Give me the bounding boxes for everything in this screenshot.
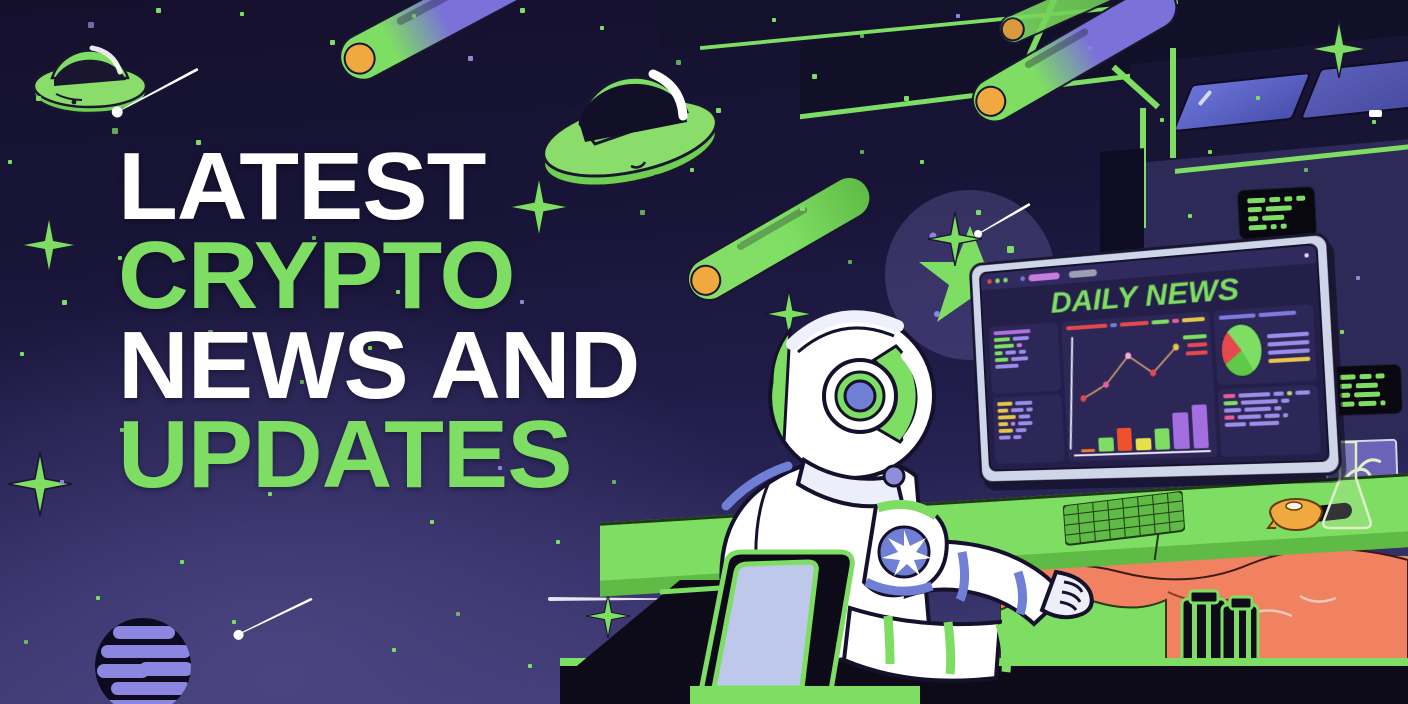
- text-placeholder-row: [1225, 419, 1314, 427]
- text-placeholder-bar: [1274, 406, 1281, 410]
- star-dot: [1024, 96, 1028, 100]
- star-dot: [736, 240, 740, 244]
- star-dot: [232, 620, 236, 624]
- star-dot: [772, 18, 776, 22]
- star-dot: [412, 14, 416, 18]
- text-placeholder-bar: [1283, 413, 1289, 417]
- star-dot: [330, 40, 335, 45]
- terminal-line-row: [1247, 196, 1305, 204]
- text-placeholder-row: [998, 419, 1058, 425]
- star-dot: [1256, 96, 1260, 100]
- star-dot: [456, 612, 460, 616]
- text-placeholder-bar: [1273, 391, 1284, 396]
- chart-panel[interactable]: [1061, 311, 1217, 461]
- text-placeholder-bar: [998, 422, 1008, 426]
- terminal-line: [1354, 392, 1380, 398]
- bar-data-point: [1099, 437, 1114, 452]
- text-placeholder-bar: [1223, 400, 1237, 405]
- pie-slice-dividers: [1220, 324, 1263, 378]
- text-placeholder-bar: [997, 408, 1008, 412]
- star-dot: [20, 352, 24, 356]
- line-data-point: [1150, 369, 1156, 376]
- legend-bar: [1187, 342, 1207, 347]
- terminal-line: [1249, 225, 1267, 231]
- star-dot: [392, 648, 396, 652]
- star-dot: [860, 150, 864, 154]
- terminal-line-row: [1340, 400, 1392, 407]
- headline-line-4: UPDATES: [118, 410, 639, 499]
- text-placeholder-bar: [997, 401, 1013, 406]
- text-placeholder-bar: [994, 344, 1014, 349]
- star-dot: [1340, 330, 1344, 334]
- text-placeholder-row: [997, 406, 1057, 413]
- bar-chart: [1079, 399, 1209, 452]
- browser-menu-icon[interactable]: [1304, 253, 1308, 258]
- star-dot: [976, 210, 981, 215]
- terminal-line: [1340, 383, 1352, 388]
- text-placeholder-bar: [1015, 428, 1026, 432]
- star-dot: [860, 34, 864, 38]
- shooting-star-bottom: [232, 593, 315, 642]
- terminal-line: [1266, 205, 1292, 211]
- star-dot: [1088, 46, 1092, 50]
- text-placeholder-bar: [1287, 391, 1293, 395]
- terminal-line-row: [1339, 373, 1391, 380]
- bar-data-point: [1191, 404, 1209, 448]
- bar-data-point: [1154, 428, 1170, 450]
- star-dot: [1356, 276, 1360, 280]
- terminal-line-row: [1248, 213, 1306, 221]
- terminal-line: [1271, 224, 1277, 229]
- star-dot: [62, 300, 67, 305]
- text-placeholder-bar: [1249, 420, 1279, 425]
- text-placeholder-bar: [1018, 421, 1033, 425]
- dashboard-body: [983, 304, 1327, 470]
- star-dot: [676, 60, 681, 65]
- window-light: [1369, 110, 1382, 117]
- star-dot: [24, 640, 28, 644]
- legend-bar: [1267, 340, 1309, 347]
- terminal-line: [1262, 215, 1284, 221]
- legend-bar: [1186, 350, 1208, 355]
- legend-bar: [1183, 334, 1207, 340]
- star-dot: [36, 96, 41, 101]
- feed-panel[interactable]: [1218, 384, 1321, 457]
- tab-indicator-icon: [1020, 276, 1025, 281]
- legend-bar: [1268, 357, 1310, 364]
- text-placeholder-bar: [1027, 407, 1033, 411]
- star-dot: [716, 108, 721, 113]
- terminal-line: [1359, 374, 1371, 379]
- text-placeholder-bar: [998, 414, 1016, 419]
- text-placeholder-row: [995, 361, 1055, 368]
- star-dot: [800, 206, 805, 211]
- text-placeholder-bar: [1238, 392, 1270, 398]
- text-placeholder-bar: [1017, 343, 1023, 347]
- legend-bar: [1151, 319, 1169, 324]
- text-placeholder-bar: [1281, 398, 1290, 403]
- star-dot: [8, 160, 12, 164]
- text-placeholder-row: [1224, 412, 1313, 420]
- terminal-line: [1248, 207, 1262, 213]
- text-placeholder-row: [997, 399, 1057, 406]
- line-data-point: [1173, 343, 1180, 350]
- star-dot: [60, 480, 64, 484]
- text-placeholder-bar: [1224, 407, 1242, 412]
- star-dot: [600, 26, 604, 30]
- star-dot: [920, 160, 924, 164]
- star-dot: [96, 596, 100, 600]
- text-placeholder-row: [998, 413, 1058, 420]
- text-placeholder-bar: [999, 435, 1011, 439]
- line-chart: [1075, 332, 1184, 409]
- chair: [690, 500, 920, 704]
- text-placeholder-bar: [999, 428, 1013, 432]
- chart-legend-side: [1183, 334, 1208, 356]
- traffic-light-minimize[interactable]: [995, 278, 1000, 283]
- bar-data-point: [1172, 412, 1189, 449]
- text-placeholder-bar: [995, 358, 1008, 363]
- bar-data-point: [1136, 437, 1152, 450]
- text-placeholder-bar: [1013, 336, 1029, 341]
- allocation-pie-chart: [1219, 323, 1264, 379]
- star-dot: [430, 520, 434, 524]
- right-column: [1213, 304, 1321, 457]
- text-placeholder-bar: [1238, 414, 1261, 419]
- headline-line-3: NEWS AND: [118, 321, 639, 410]
- terminal-line: [1380, 400, 1385, 405]
- star-dot: [690, 168, 694, 172]
- ceiling-pipe-branch: [1170, 48, 1176, 158]
- article-list-upper[interactable]: [989, 322, 1061, 393]
- text-placeholder-bar: [1018, 414, 1030, 418]
- bar-data-point: [1081, 449, 1096, 452]
- terminal-line: [1339, 374, 1355, 380]
- text-placeholder-bar: [1010, 421, 1015, 425]
- bar-data-point: [1117, 428, 1133, 451]
- comet-top-left: [331, 0, 548, 89]
- terminal-line-row: [1340, 382, 1392, 389]
- banner-canvas: DAILY NEWS: [0, 0, 1408, 704]
- legend-bar: [1259, 310, 1297, 317]
- headline-line-1: LATEST: [118, 142, 639, 231]
- legend-bar: [1172, 319, 1179, 323]
- star-dot: [1304, 168, 1308, 172]
- star-dot: [640, 210, 645, 215]
- sparkle-star-7: [928, 212, 982, 266]
- text-placeholder-row: [999, 433, 1059, 439]
- terminal-line: [1340, 393, 1350, 398]
- text-placeholder-row: [1224, 404, 1313, 412]
- text-placeholder-bar: [1240, 399, 1277, 405]
- text-placeholder-bar: [1010, 356, 1028, 361]
- terminal-line: [1285, 196, 1293, 201]
- terminal-line-row: [1248, 204, 1306, 212]
- text-placeholder-bar: [993, 329, 1030, 335]
- left-column: [989, 322, 1065, 464]
- text-placeholder-bar: [1011, 407, 1024, 411]
- sparkle-star-3: [8, 452, 72, 516]
- star-dot: [240, 12, 244, 16]
- terminal-line: [1248, 216, 1258, 222]
- legend-bar: [1268, 349, 1310, 356]
- planet-striped: [95, 618, 191, 704]
- star-dot: [1160, 118, 1164, 122]
- text-placeholder-bar: [1019, 350, 1026, 354]
- terminal-line: [1247, 198, 1266, 204]
- monitor[interactable]: DAILY NEWS: [969, 231, 1343, 484]
- text-placeholder-bar: [1244, 406, 1271, 411]
- legend-bar: [1119, 321, 1148, 327]
- text-placeholder-row: [999, 426, 1059, 432]
- text-placeholder-bar: [1015, 400, 1032, 405]
- monitor-screen[interactable]: DAILY NEWS: [979, 243, 1330, 472]
- star-dot: [156, 8, 161, 13]
- ceiling-terminal[interactable]: [1237, 186, 1318, 240]
- terminal-line: [1375, 373, 1384, 378]
- star-dot: [88, 22, 94, 28]
- star-dot: [1208, 150, 1212, 154]
- terminal-line: [1358, 401, 1376, 407]
- sparkle-star-2: [20, 216, 78, 274]
- terminal-line: [1296, 196, 1305, 201]
- headline: LATESTCRYPTONEWS ANDUPDATES: [118, 142, 629, 499]
- chart-y-axis: [1070, 337, 1073, 450]
- stats-panel[interactable]: [1213, 304, 1316, 385]
- legend-bar: [1182, 317, 1205, 323]
- terminal-line-row: [1340, 391, 1392, 398]
- stats-legend: [1267, 332, 1311, 364]
- text-placeholder-bar: [1225, 422, 1246, 427]
- sparkle-star-5: [1310, 20, 1368, 78]
- star-dot: [1188, 214, 1192, 218]
- star-dot: [956, 14, 960, 18]
- text-placeholder-bar: [1296, 390, 1311, 395]
- star-dot: [520, 8, 525, 13]
- ufo-small: [30, 28, 150, 131]
- line-data-point: [1080, 395, 1086, 402]
- headline-line-2: CRYPTO: [118, 231, 639, 320]
- star-dot: [468, 56, 473, 61]
- star-dot: [904, 96, 909, 101]
- browser-tab-idle[interactable]: [1069, 269, 1097, 278]
- terminal-line: [1281, 224, 1287, 229]
- wall-terminal[interactable]: [1329, 364, 1403, 416]
- text-placeholder-bar: [1264, 413, 1280, 418]
- star-dot: [812, 74, 817, 79]
- star-dot: [180, 560, 184, 564]
- star-dot: [848, 260, 852, 264]
- star-dot: [1372, 120, 1376, 124]
- terminal-line-row: [1249, 222, 1307, 230]
- text-placeholder-bar: [994, 337, 1011, 342]
- terminal-line: [1340, 401, 1354, 406]
- text-placeholder-bar: [1013, 435, 1022, 439]
- legend-bar: [1110, 323, 1117, 327]
- legend-bar: [1066, 324, 1107, 331]
- article-list-lower[interactable]: [992, 394, 1064, 464]
- text-placeholder-bar: [995, 364, 1019, 369]
- star-dot: [528, 664, 532, 668]
- legend-bar: [1219, 313, 1256, 320]
- legend-bar: [1267, 332, 1309, 339]
- terminal-line: [1356, 383, 1378, 389]
- terminal-line: [1270, 197, 1281, 203]
